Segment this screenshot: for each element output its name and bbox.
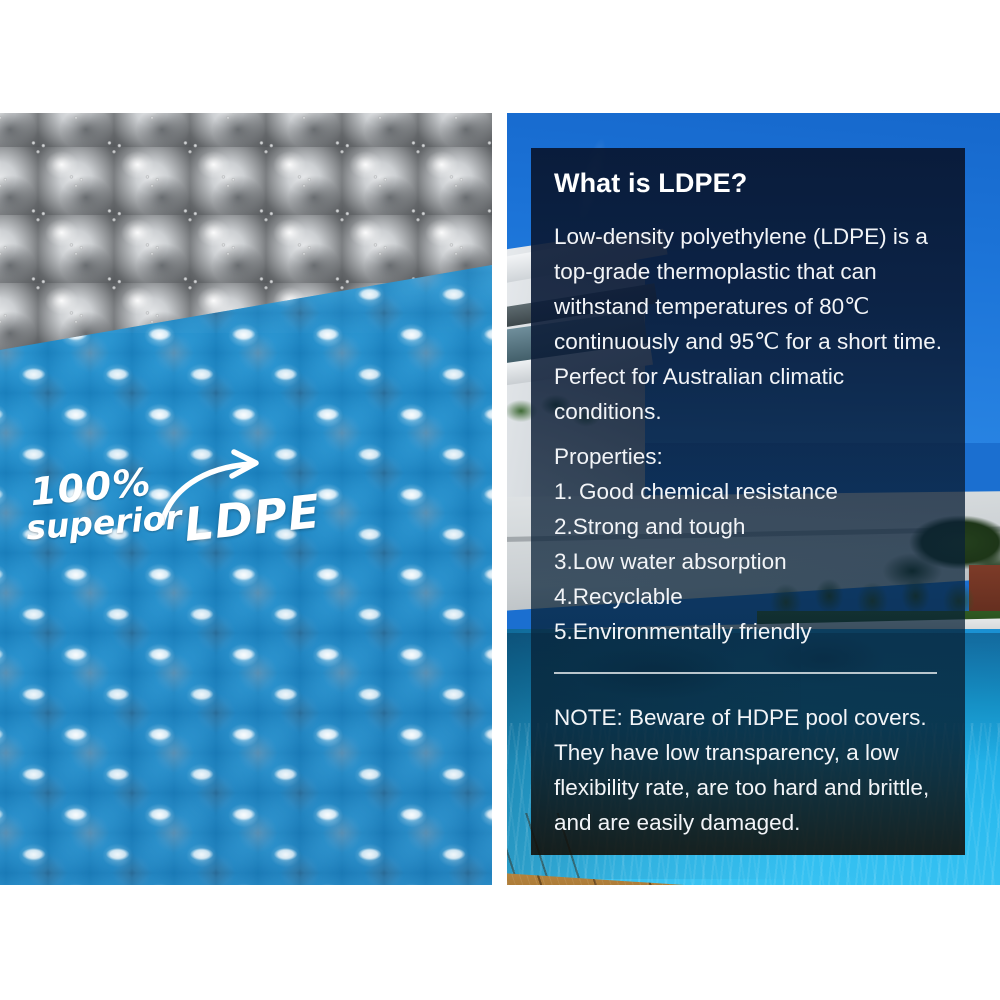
- list-item: 2.Strong and tough: [554, 509, 943, 544]
- promo-graphic: 100% superior LDPE What is LDPE: [0, 0, 1000, 1000]
- note-paragraph: NOTE: Beware of HDPE pool covers. They h…: [554, 700, 943, 840]
- list-item: 3.Low water absorption: [554, 544, 943, 579]
- properties-label: Properties:: [554, 439, 943, 474]
- info-intro-paragraph: Low-density polyethylene (LDPE) is a top…: [554, 219, 943, 429]
- list-item: 1. Good chemical resistance: [554, 474, 943, 509]
- info-title: What is LDPE?: [554, 169, 943, 199]
- info-overlay-card: What is LDPE? Low-density polyethylene (…: [531, 148, 965, 855]
- handwritten-callout: 100% superior LDPE: [26, 465, 356, 575]
- properties-list: 1. Good chemical resistance 2.Strong and…: [554, 474, 943, 649]
- right-image-panel: What is LDPE? Low-density polyethylene (…: [507, 113, 1000, 885]
- left-image-panel: 100% superior LDPE: [0, 113, 492, 885]
- list-item: 4.Recyclable: [554, 579, 943, 614]
- list-item: 5.Environmentally friendly: [554, 614, 943, 649]
- section-divider: [554, 672, 937, 674]
